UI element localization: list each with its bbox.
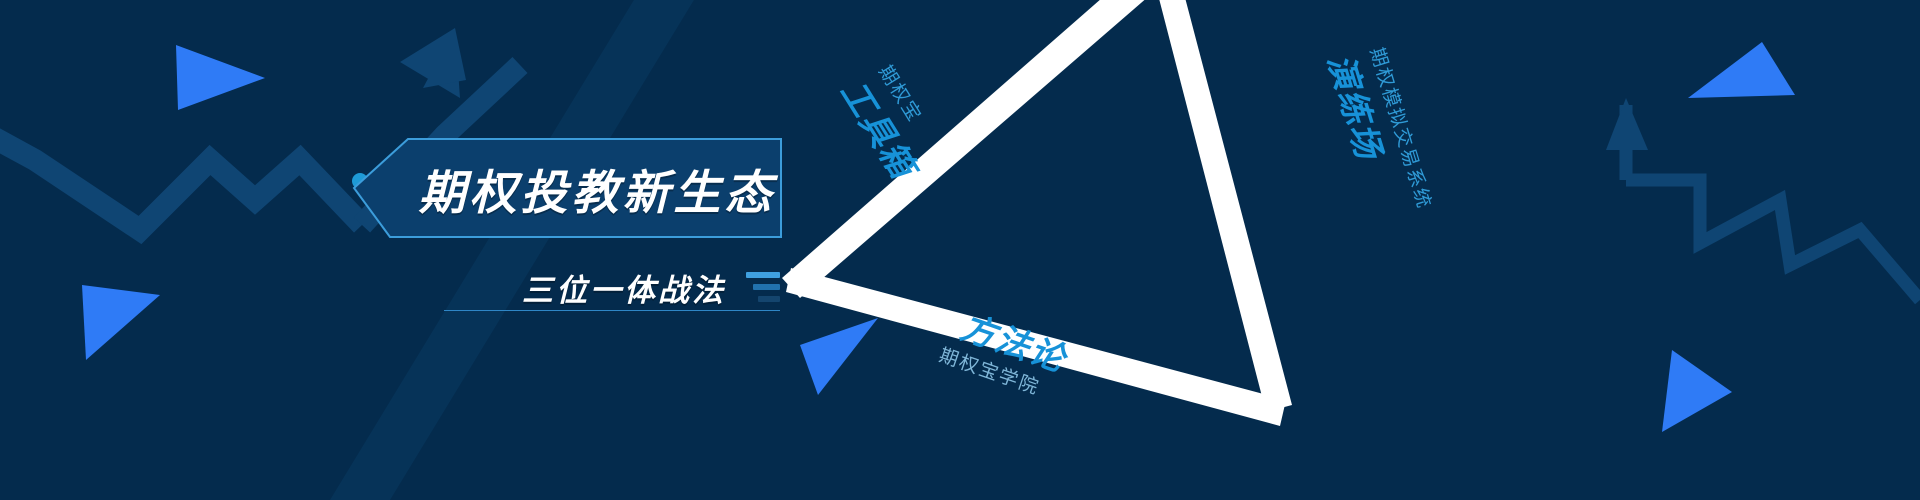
triangle-accent-3 (800, 318, 878, 395)
promo-banner: 期权投教新生态 三位一体战法 期权宝 工具箱 期权模拟交易系统 演练场 方法论 … (0, 0, 1920, 500)
left-chart-line (0, 130, 362, 230)
title-block: 期权投教新生态 (352, 138, 782, 238)
triangle-edge-right (1148, 0, 1292, 412)
right-chart-line (1626, 180, 1920, 300)
triangle-accent-2 (82, 285, 160, 360)
triangle-edge-topleft (782, 0, 1186, 298)
three-bars-icon (746, 272, 780, 302)
triangle-accent-5 (1662, 350, 1732, 432)
triangle-accent-1 (176, 45, 265, 110)
background-decor (0, 0, 1920, 500)
subtitle-text: 三位一体战法 (522, 265, 726, 310)
right-arrow-head (1606, 98, 1648, 150)
triangle-accent-4 (1688, 42, 1795, 98)
subtitle-row: 三位一体战法 (444, 256, 780, 318)
subtitle-divider (444, 310, 780, 311)
page-title: 期权投教新生态 (412, 138, 782, 238)
